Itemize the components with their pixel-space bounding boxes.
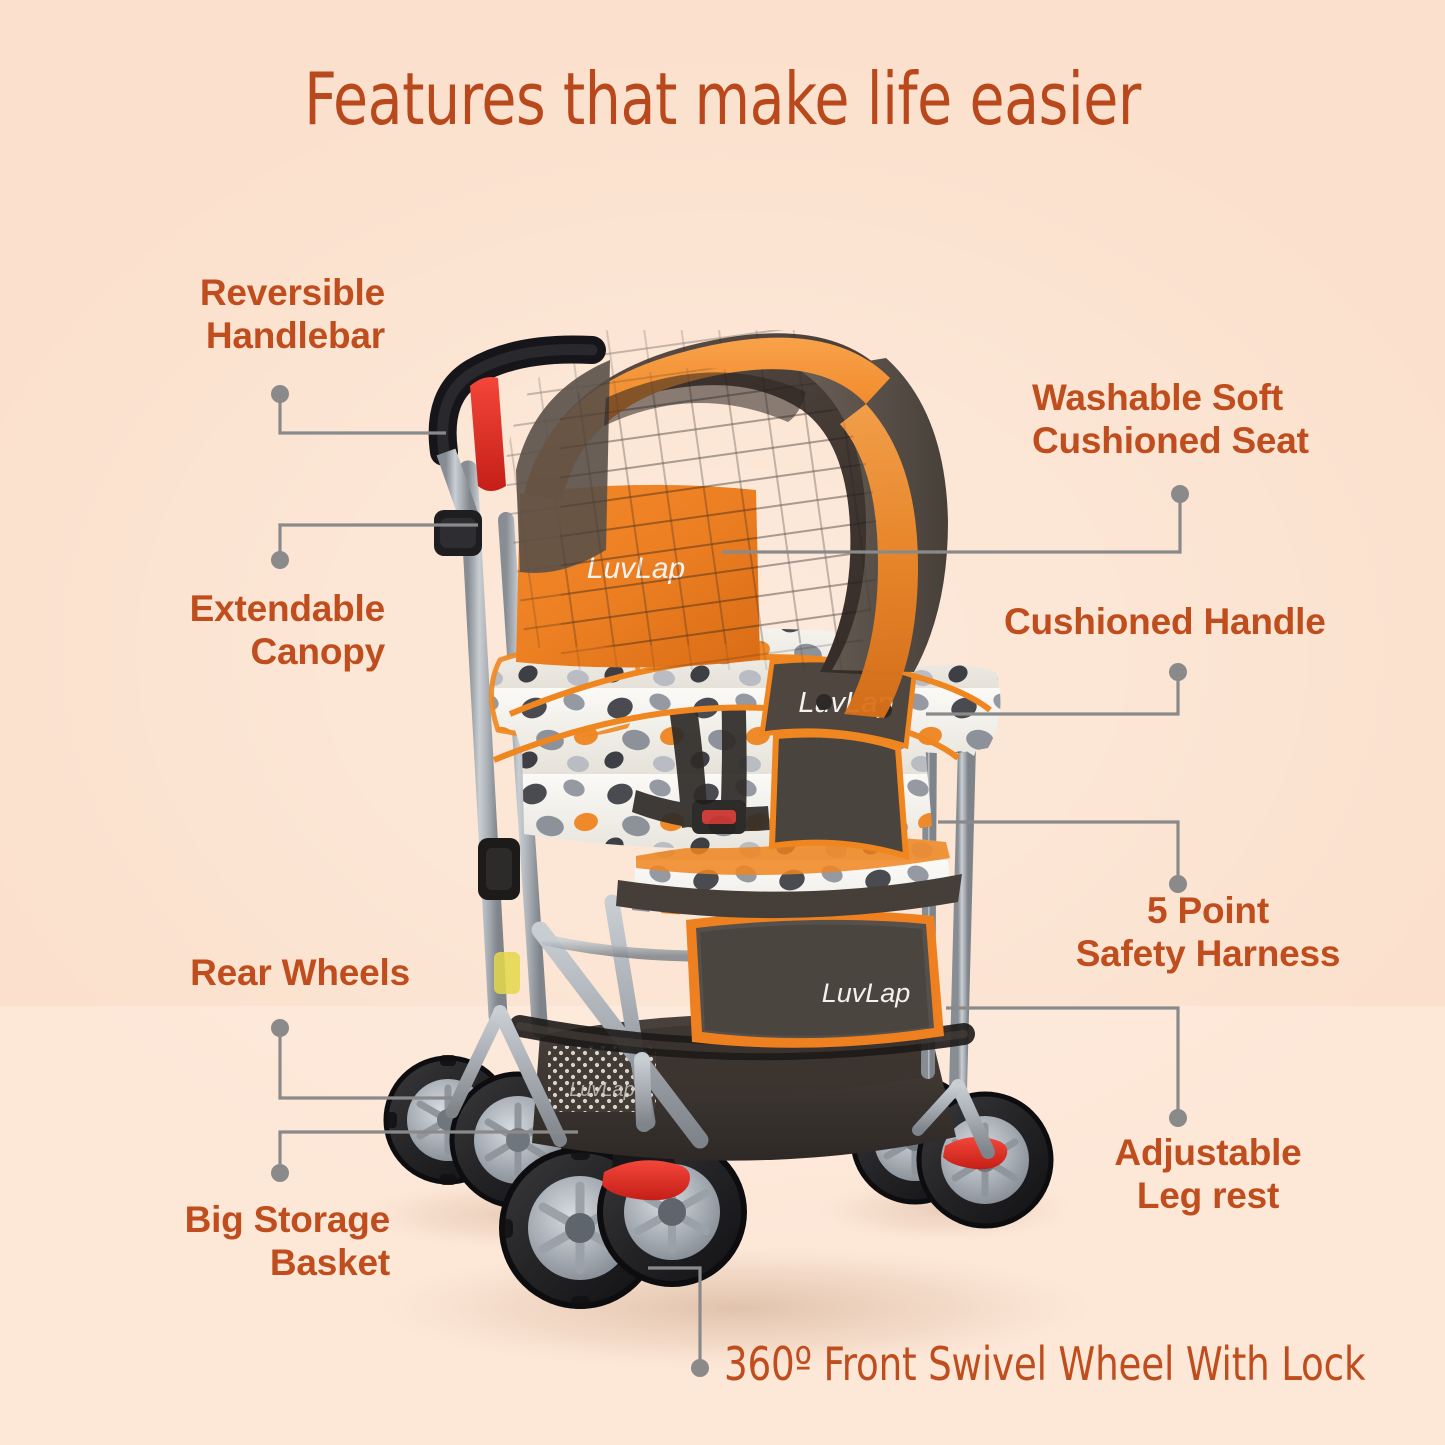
callout-safety-harness: 5 Point Safety Harness <box>1018 890 1398 976</box>
page-title: Features that make life easier <box>87 62 1359 137</box>
legrest-logo: LuvLap <box>822 978 911 1008</box>
callout-adjustable-leg-rest: Adjustable Leg rest <box>1018 1132 1398 1218</box>
callout-extendable-canopy: Extendable Canopy <box>70 588 385 674</box>
callout-big-storage-basket: Big Storage Basket <box>55 1199 390 1285</box>
callout-front-swivel-wheel: 360º Front Swivel Wheel With Lock <box>724 1338 1408 1391</box>
callout-rear-wheels: Rear Wheels <box>70 952 410 995</box>
callout-reversible-handlebar: Reversible Handlebar <box>70 272 385 358</box>
adjustable-leg-rest: LuvLap <box>686 911 944 1048</box>
basket-logo: LuvLap <box>569 1079 635 1101</box>
callout-cushioned-handle: Cushioned Handle <box>1004 601 1404 644</box>
callout-washable-cushioned-seat: Washable Soft Cushioned Seat <box>1032 377 1412 463</box>
infographic-canvas: LuvLap LuvLap <box>0 0 1445 1445</box>
seat-base <box>616 836 962 918</box>
